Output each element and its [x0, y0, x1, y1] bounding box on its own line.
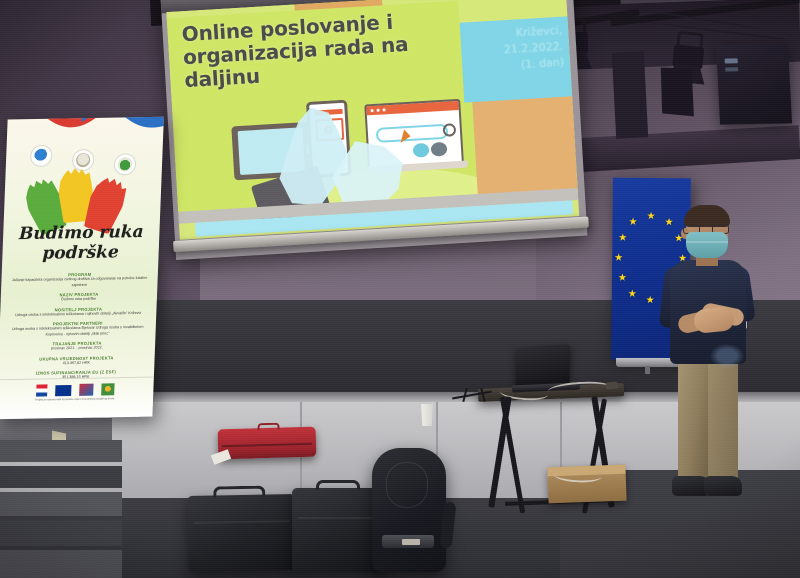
eu-star-icon: ★: [628, 218, 637, 228]
cardboard-box: [547, 465, 626, 504]
tshirt-print: [710, 344, 744, 368]
projected-slide: Križevci, 21.2.2022. (1. dan) Online pos…: [166, 0, 579, 240]
banner-section-text: 413.397,82 HRK: [4, 360, 148, 368]
banner-footer: Projekt je sufinancirala Europska unija …: [0, 377, 154, 404]
banner-section-text: Udruga osoba s intelektualnim teškoćama …: [6, 310, 150, 318]
banner-section-text: Jačanje kapaciteta organizacija civilnog…: [7, 276, 152, 290]
power-plug: [606, 381, 619, 389]
presenter: [656, 208, 760, 508]
handprint-graphic: [28, 167, 140, 227]
face-mask: [686, 232, 728, 258]
eu-star-icon: ★: [618, 274, 627, 284]
wall-speaker: [716, 43, 792, 124]
partner-logo-icon: [30, 145, 53, 167]
red-suitcase: [218, 427, 317, 460]
paper-cup: [420, 404, 434, 426]
banner-title-line2: podrške: [2, 242, 159, 265]
banner-section-text: Udruga osoba s intelektualnim teškoćama …: [5, 325, 150, 339]
stairs: [0, 440, 120, 578]
banner-section-text: Budimo ruka podrške: [7, 296, 151, 304]
cable-bundle: [452, 388, 498, 406]
eu-star-icon: ★: [628, 290, 637, 300]
wall-acoustic-panel: [612, 51, 648, 139]
partner-logo-icon: [101, 383, 114, 395]
projection-screen: Križevci, 21.2.2022. (1. dan) Online pos…: [161, 0, 588, 260]
banner-title: Budimo ruka podrške: [2, 222, 160, 265]
roll-up-banner: Budimo ruka podrške PROGRAM Jačanje kapa…: [0, 117, 164, 420]
eu-star-icon: ★: [646, 212, 655, 222]
eu-star-icon: ★: [618, 234, 627, 244]
banner-title-line1: Budimo ruka: [3, 222, 160, 245]
presenter-legs: [678, 358, 740, 482]
shoe: [704, 476, 742, 496]
backpack: [372, 448, 446, 572]
banner-body: PROGRAM Jačanje kapaciteta organizacija …: [4, 267, 153, 382]
eu-banner-pole: [645, 366, 650, 374]
laptop-bag: [187, 494, 296, 572]
slide-date-text: Križevci, 21.2.2022. (1. dan): [458, 23, 565, 77]
stage-light-body: [657, 64, 696, 119]
esf-logo-icon: [79, 384, 93, 396]
presenter-hair: [684, 205, 730, 227]
eu-flag-icon: [55, 385, 71, 396]
banner-section-text: prosinac 2021. - prosinac 2022.: [5, 345, 149, 353]
photo-scene: Križevci, 21.2.2022. (1. dan) Online pos…: [0, 0, 800, 578]
eu-star-icon: ★: [646, 296, 655, 306]
croatia-coat-of-arms-icon: [36, 385, 47, 397]
eu-star-icon: ★: [614, 254, 623, 264]
